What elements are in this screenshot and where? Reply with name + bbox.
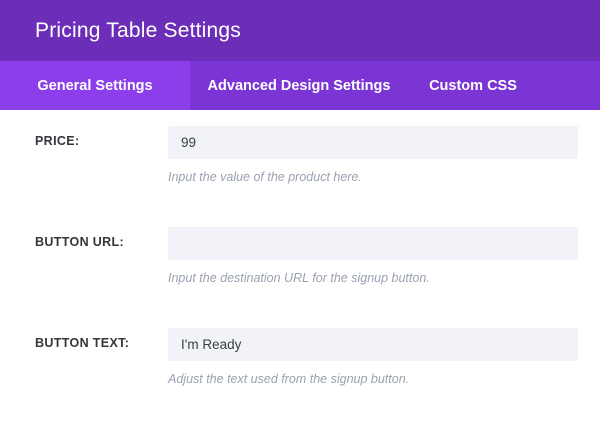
- button-url-control: Input the destination URL for the signup…: [168, 227, 578, 286]
- tab-advanced-design-settings[interactable]: Advanced Design Settings: [190, 61, 408, 110]
- button-text-label: BUTTON TEXT:: [35, 337, 160, 350]
- page-title: Pricing Table Settings: [35, 20, 241, 41]
- tab-custom-css-label: Custom CSS: [429, 78, 517, 94]
- price-input[interactable]: [168, 126, 578, 159]
- button-text-control: Adjust the text used from the signup but…: [168, 328, 578, 387]
- settings-form: PRICE: Input the value of the product he…: [0, 110, 600, 437]
- tab-custom-css[interactable]: Custom CSS: [408, 61, 538, 110]
- button-url-input[interactable]: [168, 227, 578, 260]
- field-row-price: PRICE: Input the value of the product he…: [0, 126, 600, 185]
- tab-general-settings[interactable]: General Settings: [0, 61, 190, 110]
- tab-advanced-design-settings-label: Advanced Design Settings: [208, 78, 391, 94]
- price-label: PRICE:: [35, 135, 160, 148]
- tab-bar: General Settings Advanced Design Setting…: [0, 61, 600, 110]
- button-url-help-text: Input the destination URL for the signup…: [168, 271, 578, 286]
- field-row-button-url: BUTTON URL: Input the destination URL fo…: [0, 227, 600, 286]
- dialog-header: Pricing Table Settings: [0, 0, 600, 61]
- button-text-help-text: Adjust the text used from the signup but…: [168, 372, 578, 387]
- tab-general-settings-label: General Settings: [37, 78, 152, 94]
- price-control: Input the value of the product here.: [168, 126, 578, 185]
- button-url-label: BUTTON URL:: [35, 236, 160, 249]
- price-help-text: Input the value of the product here.: [168, 170, 578, 185]
- button-text-input[interactable]: [168, 328, 578, 361]
- field-row-button-text: BUTTON TEXT: Adjust the text used from t…: [0, 328, 600, 387]
- pricing-table-settings-dialog: Pricing Table Settings General Settings …: [0, 0, 600, 437]
